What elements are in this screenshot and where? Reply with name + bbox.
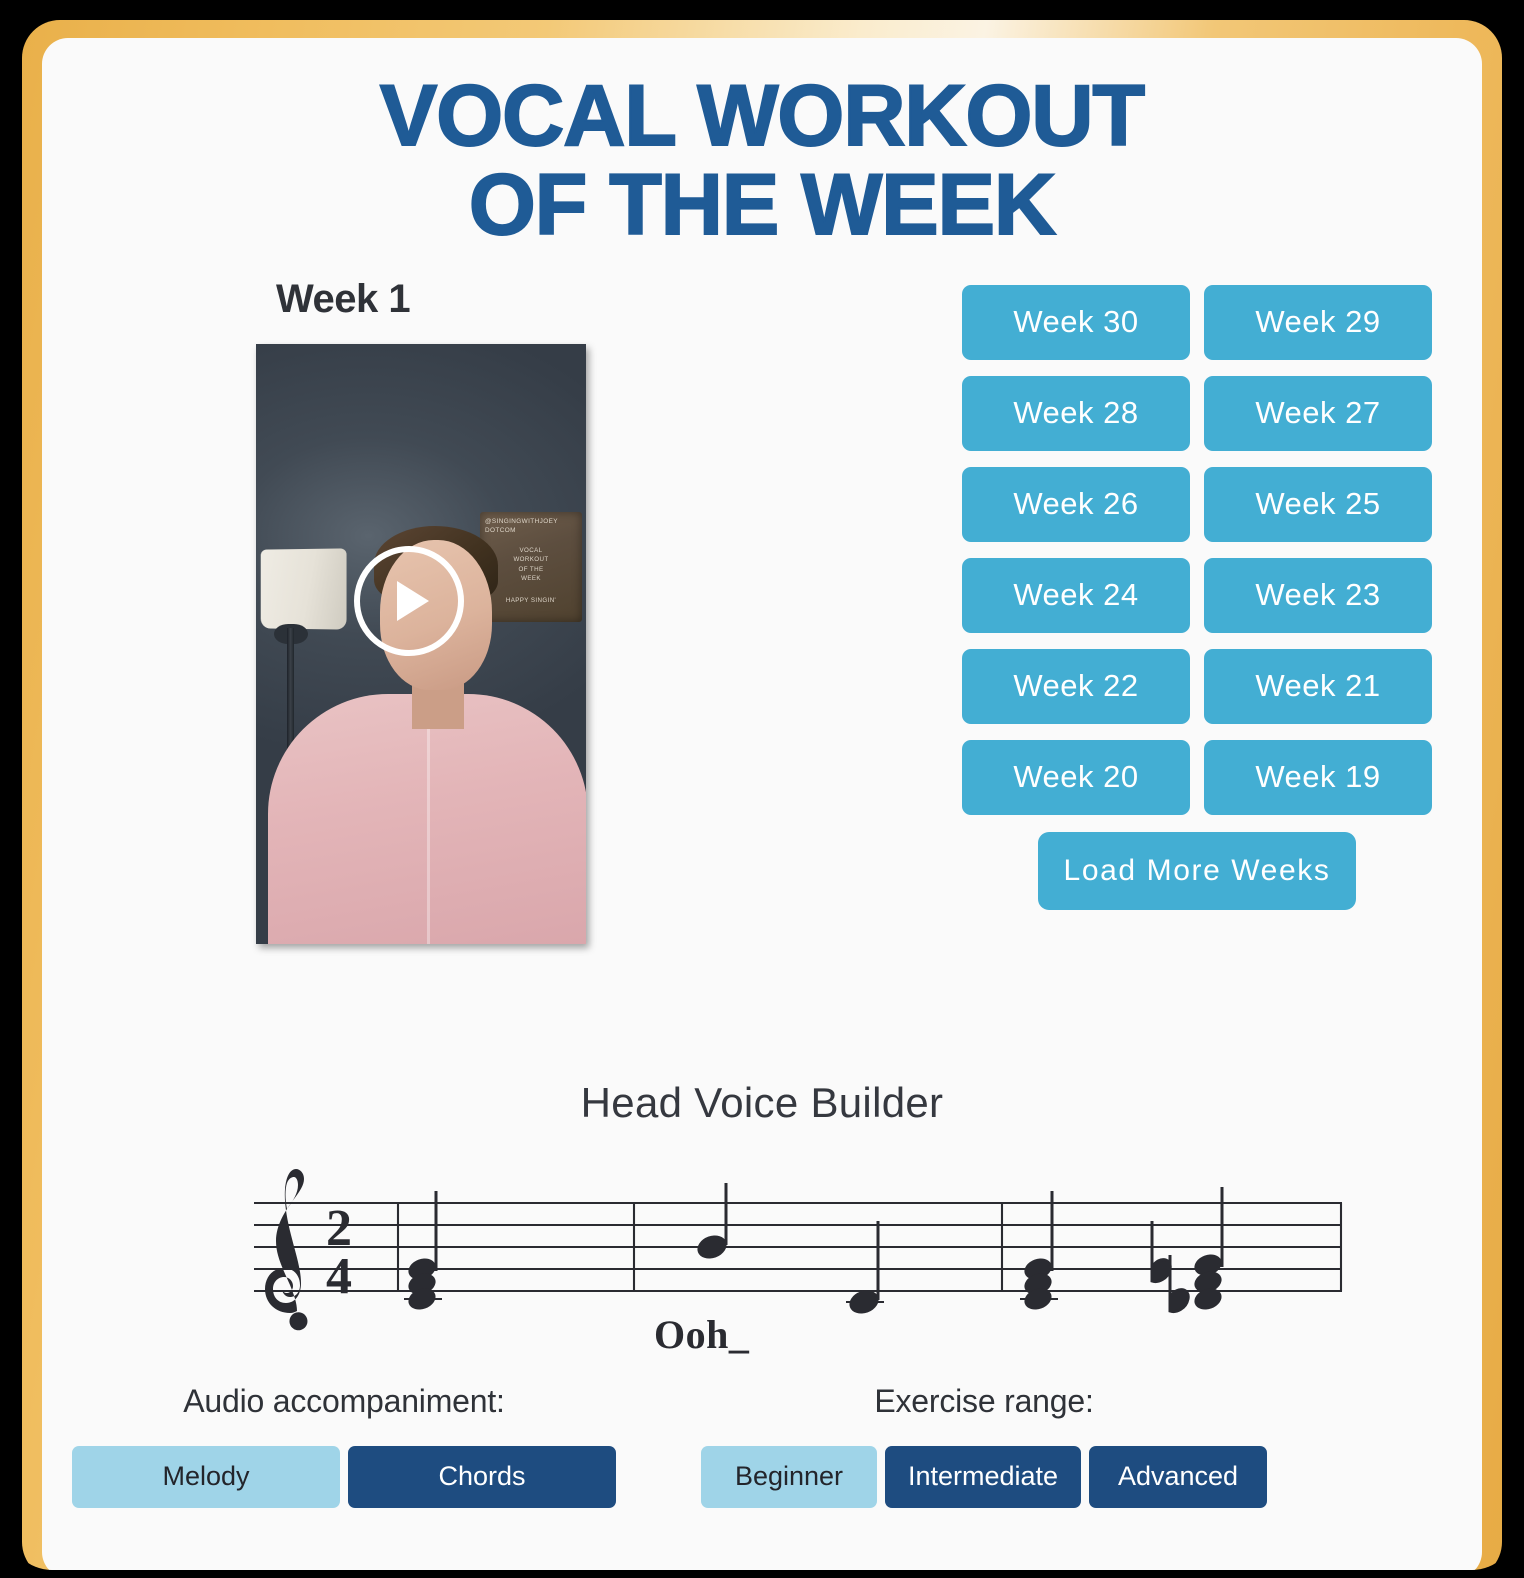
music-notation: 2 4 [42, 1163, 1482, 1343]
exercise-range-buttons: Beginner Intermediate Advanced [701, 1446, 1267, 1508]
controls-row: Audio accompaniment: Melody Chords Exerc… [42, 1383, 1482, 1508]
week-button[interactable]: Week 23 [1204, 558, 1432, 633]
lamp-icon [261, 548, 347, 629]
lyric-text: Ooh_ [654, 1311, 749, 1358]
audio-accompaniment-group: Audio accompaniment: Melody Chords [64, 1383, 624, 1508]
page-title: VOCAL WORKOUT OF THE WEEK [42, 72, 1482, 251]
chord-4 [1191, 1187, 1224, 1313]
treble-clef-icon [265, 1169, 307, 1330]
weeks-grid: Week 30 Week 29 Week 28 Week 27 Week 26 … [962, 285, 1432, 815]
flat-accidental-lower [1170, 1255, 1188, 1312]
chord-1 [404, 1191, 442, 1313]
week-button[interactable]: Week 27 [1204, 376, 1432, 451]
note-2a [694, 1183, 730, 1262]
video-column: Week 1 @SINGINGWITHJOEY DOTCOM VOCAL WOR… [256, 277, 616, 944]
week-button[interactable]: Week 19 [1204, 740, 1432, 815]
play-triangle-icon [397, 581, 429, 621]
week-button[interactable]: Week 24 [962, 558, 1190, 633]
exercise-range-label: Exercise range: [874, 1383, 1093, 1420]
page-title-line1: VOCAL WORKOUT [380, 68, 1144, 164]
audio-option-chords[interactable]: Chords [348, 1446, 616, 1508]
week-button[interactable]: Week 21 [1204, 649, 1432, 724]
sign-handle-2: DOTCOM [480, 527, 582, 536]
exercise-range-group: Exercise range: Beginner Intermediate Ad… [684, 1383, 1284, 1508]
week-button[interactable]: Week 29 [1204, 285, 1432, 360]
sign-footer: HAPPY SINGIN' [480, 596, 582, 605]
sign-handle: @SINGINGWITHJOEY [480, 518, 582, 527]
week-button[interactable]: Week 20 [962, 740, 1190, 815]
load-more-row: Load More Weeks [962, 832, 1432, 910]
main-content: Week 1 @SINGINGWITHJOEY DOTCOM VOCAL WOR… [42, 277, 1482, 967]
audio-accompaniment-label: Audio accompaniment: [183, 1383, 505, 1420]
exercise-title: Head Voice Builder [42, 1079, 1482, 1127]
staff-svg: 2 4 [42, 1163, 1482, 1343]
current-week-label: Week 1 [276, 277, 616, 322]
person-torso [268, 694, 586, 944]
week-button[interactable]: Week 28 [962, 376, 1190, 451]
range-option-advanced[interactable]: Advanced [1089, 1446, 1267, 1508]
audio-accompaniment-buttons: Melody Chords [72, 1446, 616, 1508]
flat-accidental-upper [1152, 1221, 1170, 1282]
week-button[interactable]: Week 22 [962, 649, 1190, 724]
page-title-line2: OF THE WEEK [82, 161, 1442, 250]
range-option-intermediate[interactable]: Intermediate [885, 1446, 1081, 1508]
app-screen: VOCAL WORKOUT OF THE WEEK Week 1 @SINGIN… [42, 38, 1482, 1570]
range-option-beginner[interactable]: Beginner [701, 1446, 877, 1508]
device-frame: VOCAL WORKOUT OF THE WEEK Week 1 @SINGIN… [8, 8, 1516, 1570]
audio-option-melody[interactable]: Melody [72, 1446, 340, 1508]
play-icon[interactable] [354, 546, 464, 656]
load-more-weeks-button[interactable]: Load More Weeks [1038, 832, 1357, 910]
time-signature-denominator: 4 [326, 1248, 352, 1305]
chord-3 [1020, 1191, 1058, 1313]
week-button[interactable]: Week 25 [1204, 467, 1432, 542]
video-player[interactable]: @SINGINGWITHJOEY DOTCOM VOCAL WORKOUT OF… [256, 344, 586, 944]
weeks-column: Week 30 Week 29 Week 28 Week 27 Week 26 … [962, 285, 1432, 910]
week-button[interactable]: Week 30 [962, 285, 1190, 360]
week-button[interactable]: Week 26 [962, 467, 1190, 542]
